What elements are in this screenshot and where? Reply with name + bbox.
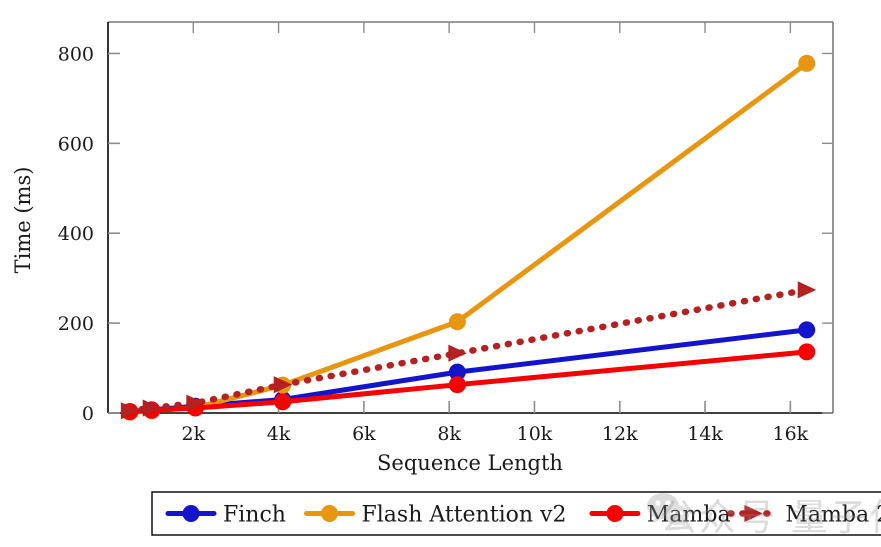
data-point-marker bbox=[449, 313, 466, 330]
data-point-marker bbox=[449, 376, 466, 393]
data-point-marker bbox=[798, 281, 816, 298]
x-axis-title: Sequence Length bbox=[377, 451, 563, 475]
legend-marker bbox=[606, 505, 623, 522]
series-flash-attention-v2 bbox=[121, 55, 815, 421]
series-mamba-2x bbox=[121, 281, 816, 419]
y-tick-label: 600 bbox=[58, 133, 94, 155]
x-tick-label: 16k bbox=[773, 423, 809, 445]
legend-label: Flash Attention v2 bbox=[362, 503, 567, 528]
legend-label: Mamba 2x bbox=[785, 503, 881, 528]
legend-marker bbox=[321, 505, 338, 522]
x-tick-label: 2k bbox=[181, 423, 205, 445]
y-tick-label: 0 bbox=[82, 403, 94, 425]
x-tick-label: 12k bbox=[602, 423, 638, 445]
data-point-marker bbox=[798, 321, 815, 338]
x-axis-ticks: 2k4k6k8k10k12k14k16k bbox=[181, 401, 808, 445]
legend-marker bbox=[183, 505, 200, 522]
legend-label: Mamba bbox=[647, 503, 731, 528]
series-mamba bbox=[121, 343, 815, 420]
right-frame-ticks bbox=[822, 53, 833, 413]
x-tick-label: 14k bbox=[687, 423, 723, 445]
chart-legend: FinchFlash Attention v2MambaMamba 2x bbox=[152, 492, 881, 535]
y-tick-label: 800 bbox=[58, 43, 94, 65]
x-tick-label: 10k bbox=[517, 423, 553, 445]
y-axis-title: Time (ms) bbox=[11, 167, 35, 274]
data-point-marker bbox=[798, 343, 815, 360]
top-frame-ticks bbox=[193, 22, 790, 33]
data-point-marker bbox=[274, 393, 291, 410]
legend-label: Finch bbox=[223, 503, 286, 528]
y-tick-label: 200 bbox=[58, 313, 94, 335]
data-point-marker bbox=[798, 55, 815, 72]
data-point-marker bbox=[448, 345, 466, 362]
x-tick-label: 8k bbox=[437, 423, 461, 445]
x-tick-label: 4k bbox=[267, 423, 291, 445]
y-tick-label: 400 bbox=[58, 223, 94, 245]
x-tick-label: 6k bbox=[352, 423, 376, 445]
plot-frame bbox=[108, 22, 833, 413]
line-chart: 0200400600800 2k4k6k8k10k12k14k16k Seque… bbox=[0, 0, 881, 547]
series-line bbox=[130, 290, 807, 411]
data-series-group bbox=[121, 55, 816, 421]
y-axis-ticks: 0200400600800 bbox=[58, 43, 120, 425]
chart-figure: 0200400600800 2k4k6k8k10k12k14k16k Seque… bbox=[0, 0, 881, 547]
